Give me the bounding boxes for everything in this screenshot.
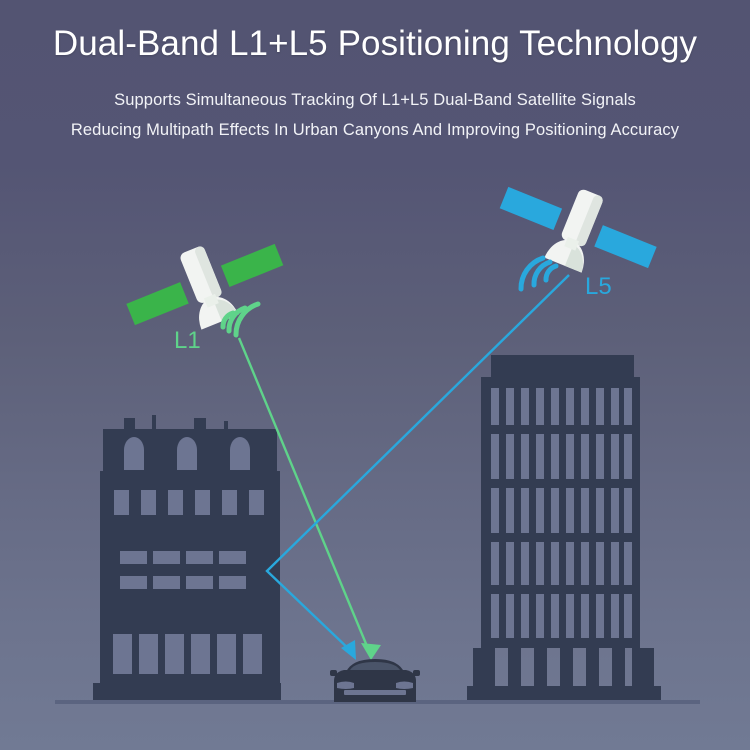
window (624, 594, 632, 638)
car-grille (344, 690, 406, 695)
rooftop-unit (124, 418, 135, 429)
window (249, 490, 264, 515)
window (165, 634, 184, 674)
window (195, 490, 210, 515)
window (219, 576, 246, 589)
solar-panel-left (500, 187, 562, 230)
window (491, 488, 499, 533)
window (581, 388, 589, 425)
illustration-scene: L1 L5 (0, 0, 750, 750)
infographic-root: Dual-Band L1+L5 Positioning Technology S… (0, 0, 750, 750)
car-mirror-right (413, 670, 420, 676)
base-column (560, 648, 573, 688)
solar-panel-left (126, 282, 188, 325)
solar-panel-right (221, 244, 283, 287)
car (330, 659, 420, 702)
window (153, 576, 180, 589)
satellite-l5 (489, 163, 667, 295)
window (551, 594, 559, 638)
solar-panel-right (594, 225, 656, 268)
window (153, 551, 180, 564)
window (491, 542, 499, 585)
window (521, 594, 529, 638)
right-building (467, 355, 661, 704)
window (506, 488, 514, 533)
window (139, 634, 158, 674)
window (219, 551, 246, 564)
window (551, 388, 559, 425)
right-building-roof-cap (491, 355, 634, 377)
l5-label: L5 (585, 273, 612, 300)
base-column (612, 648, 625, 688)
window (596, 488, 604, 533)
window (566, 594, 574, 638)
window (222, 490, 237, 515)
arched-window (124, 437, 144, 470)
window (596, 434, 604, 479)
window (581, 542, 589, 585)
window (506, 542, 514, 585)
window (581, 488, 589, 533)
car-mirror-left (330, 670, 337, 676)
arched-window (177, 437, 197, 470)
window (551, 434, 559, 479)
window (624, 388, 632, 425)
window (186, 551, 213, 564)
window (521, 488, 529, 533)
window (611, 542, 619, 585)
left-building (93, 415, 281, 704)
window (536, 434, 544, 479)
window (536, 594, 544, 638)
base-column (508, 648, 521, 688)
rooftop-antenna (224, 421, 228, 429)
window (491, 434, 499, 479)
base-column (534, 648, 547, 688)
window (243, 634, 262, 674)
window (581, 434, 589, 479)
satellite-l1 (117, 220, 295, 352)
window (611, 434, 619, 479)
window (566, 488, 574, 533)
window (168, 490, 183, 515)
window (611, 488, 619, 533)
window (566, 542, 574, 585)
window (491, 388, 499, 425)
window (611, 594, 619, 638)
window (186, 576, 213, 589)
window (536, 488, 544, 533)
window (120, 576, 147, 589)
window (491, 594, 499, 638)
window (521, 542, 529, 585)
window (506, 434, 514, 479)
window (114, 490, 129, 515)
window (506, 594, 514, 638)
window (581, 594, 589, 638)
base-column (586, 648, 599, 688)
window (624, 488, 632, 533)
window (624, 542, 632, 585)
window (596, 542, 604, 585)
window (551, 542, 559, 585)
l1-arrowhead-icon (361, 643, 381, 660)
window (596, 594, 604, 638)
window (611, 388, 619, 425)
window (551, 488, 559, 533)
rooftop-antenna (152, 415, 156, 429)
car-shadow (334, 698, 416, 702)
base-column (632, 648, 654, 688)
base-column (473, 648, 495, 688)
window (120, 551, 147, 564)
l1-label: L1 (174, 327, 201, 354)
window (536, 388, 544, 425)
l5-signal-waves-icon (521, 258, 556, 289)
arched-window (230, 437, 250, 470)
window (141, 490, 156, 515)
car-headlight-left (337, 682, 354, 690)
window (624, 434, 632, 479)
rooftop-unit (194, 418, 206, 429)
window (566, 388, 574, 425)
window (191, 634, 210, 674)
window (506, 388, 514, 425)
right-building-base-columns (473, 648, 654, 688)
window (521, 434, 529, 479)
window (113, 634, 132, 674)
window (217, 634, 236, 674)
window (536, 542, 544, 585)
window (566, 434, 574, 479)
car-headlight-right (396, 682, 413, 690)
window (596, 388, 604, 425)
window (521, 388, 529, 425)
